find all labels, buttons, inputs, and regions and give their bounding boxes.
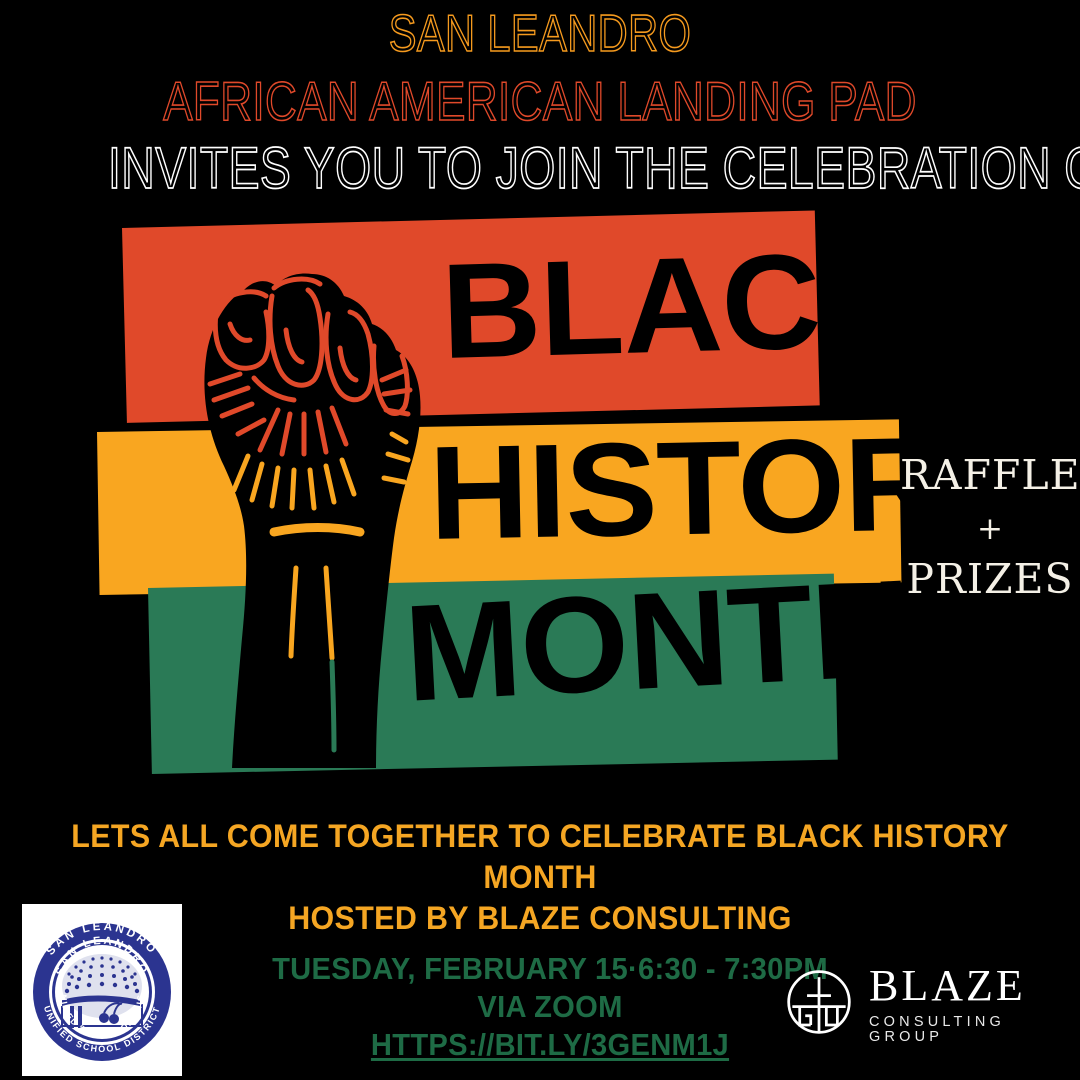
event-platform: VIA ZOOM: [259, 988, 842, 1026]
header-line-3-text: INVITES YOU TO JOIN THE CELEBRATION OF: [108, 140, 1080, 198]
blaze-subtitle: CONSULTING GROUP: [869, 1015, 1060, 1044]
blaze-name: BLAZE: [869, 964, 1060, 1008]
header-line-1-text: SAN LEANDRO: [389, 8, 692, 60]
blaze-wordmark: BLAZE CONSULTING GROUP: [869, 964, 1060, 1044]
title-word-month: MONTH: [402, 569, 915, 713]
event-registration-link[interactable]: HTTPS://BIT.LY/3GENM1J: [259, 1026, 842, 1064]
header-line-african-american-landing-pad: AFRICAN AMERICAN LANDING PAD: [108, 74, 972, 129]
event-datetime: TUESDAY, FEBRUARY 15·6:30 - 7:30PM: [259, 950, 842, 988]
header-line-san-leandro: SAN LEANDRO: [108, 8, 972, 60]
slusd-logo: SAN LEANDRO UNIFIED SCHOOL DISTRICT SAN …: [22, 904, 182, 1076]
raffle-plus-symbol: +: [900, 514, 1080, 545]
title-word-black: BLACK: [440, 241, 920, 370]
poster-canvas: SAN LEANDRO AFRICAN AMERICAN LANDING PAD…: [0, 0, 1080, 1080]
blaze-emblem-icon: [785, 968, 853, 1041]
raffle-prizes-block: RAFFLE + PRIZES: [900, 455, 1080, 600]
raffle-label: RAFFLE: [900, 455, 1080, 496]
header-line-invitation: INVITES YOU TO JOIN THE CELEBRATION OF: [108, 140, 972, 198]
prizes-label: PRIZES: [900, 559, 1080, 600]
header-line-2-text: AFRICAN AMERICAN LANDING PAD: [163, 74, 917, 129]
tagline-line-1: LETS ALL COME TOGETHER TO CELEBRATE BLAC…: [27, 816, 1053, 898]
blaze-logo: BLAZE CONSULTING GROUP: [785, 962, 1060, 1046]
event-details-block: TUESDAY, FEBRUARY 15·6:30 - 7:30PM VIA Z…: [240, 950, 860, 1063]
